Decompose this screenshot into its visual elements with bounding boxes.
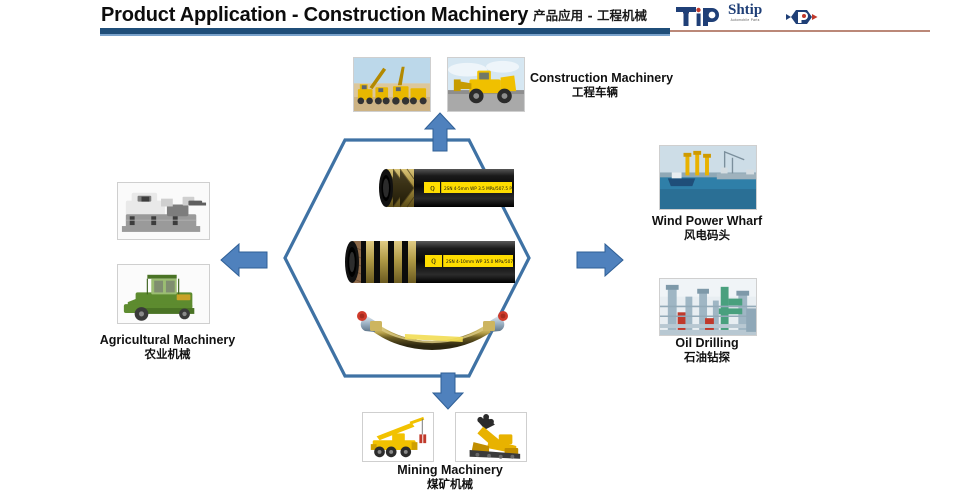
slide-canvas: Product Application - Construction Machi… bbox=[0, 0, 960, 500]
arrow-right-energy bbox=[576, 243, 624, 282]
caption-zh: 煤矿机械 bbox=[360, 478, 540, 491]
brand-logo-group: Shtip Automobile Parts bbox=[668, 1, 848, 31]
shtip-logo-text: Shtip bbox=[728, 3, 762, 18]
p-diamond-logo bbox=[786, 5, 820, 34]
caption-zh: 农业机械 bbox=[60, 348, 275, 361]
caption-agricultural-machinery: Agricultural Machinery 农业机械 bbox=[60, 333, 275, 361]
tip-logo bbox=[674, 4, 724, 35]
hose-assembly-with-fittings bbox=[345, 310, 520, 352]
photo-injection-molding-machine bbox=[117, 182, 210, 240]
arrow-up-construction bbox=[424, 112, 456, 157]
photo-harvester bbox=[117, 264, 210, 324]
caption-zh: 工程车辆 bbox=[530, 86, 760, 99]
braided-hydraulic-hose: ℚ 2SN 4-5mm WP 3.5 MPa/507.5 PSI 5mm 2 S… bbox=[366, 166, 514, 210]
photo-oil-refinery bbox=[659, 278, 757, 336]
caption-en: Mining Machinery bbox=[360, 463, 540, 477]
caption-zh: 风电码头 bbox=[617, 229, 797, 242]
svg-text:ℚ: ℚ bbox=[430, 185, 435, 192]
caption-mining-machinery: Mining Machinery 煤矿机械 bbox=[360, 463, 540, 491]
photo-wheel-loader bbox=[447, 57, 525, 112]
shtip-logo: Shtip Automobile Parts bbox=[728, 3, 762, 23]
slide-header: Product Application - Construction Machi… bbox=[0, 0, 960, 44]
photo-excavator-fleet bbox=[353, 57, 431, 112]
page-title-zh: 产品应用 - 工程机械 bbox=[533, 8, 647, 23]
arrow-left-agricultural bbox=[220, 243, 268, 282]
svg-text:2SN 4-5mm WP 3.5 MPa/507.5 PSI: 2SN 4-5mm WP 3.5 MPa/507.5 PSI 5mm 2 SN bbox=[444, 186, 514, 191]
spiral-hydraulic-hose: ℚ 2SN 4-10mm WP 35.0 MPa/5075 PSI 10mm 2… bbox=[330, 238, 515, 286]
caption-en: Agricultural Machinery bbox=[60, 333, 275, 347]
photo-wind-power-wharf bbox=[659, 145, 757, 210]
arrow-down-mining bbox=[432, 372, 464, 415]
svg-text:ℚ: ℚ bbox=[431, 258, 436, 266]
photo-mobile-crane bbox=[362, 412, 434, 462]
caption-en: Construction Machinery bbox=[530, 71, 760, 85]
caption-oil-drilling: Oil Drilling 石油钻探 bbox=[617, 336, 797, 364]
caption-construction-machinery: Construction Machinery 工程车辆 bbox=[530, 71, 760, 99]
caption-zh: 石油钻探 bbox=[617, 351, 797, 364]
photo-roadheader bbox=[455, 412, 527, 462]
caption-en: Wind Power Wharf bbox=[617, 214, 797, 228]
shtip-logo-subtitle: Automobile Parts bbox=[728, 18, 762, 23]
page-title: Product Application - Construction Machi… bbox=[101, 4, 647, 27]
page-title-en: Product Application - Construction Machi… bbox=[101, 4, 528, 26]
header-rule-highlight bbox=[100, 34, 670, 36]
svg-text:2SN 4-10mm WP 35.0 MPa/5075 PS: 2SN 4-10mm WP 35.0 MPa/5075 PSI 10mm 2 S… bbox=[446, 259, 515, 265]
caption-wind-power-wharf: Wind Power Wharf 风电码头 bbox=[617, 214, 797, 242]
caption-en: Oil Drilling bbox=[617, 336, 797, 350]
